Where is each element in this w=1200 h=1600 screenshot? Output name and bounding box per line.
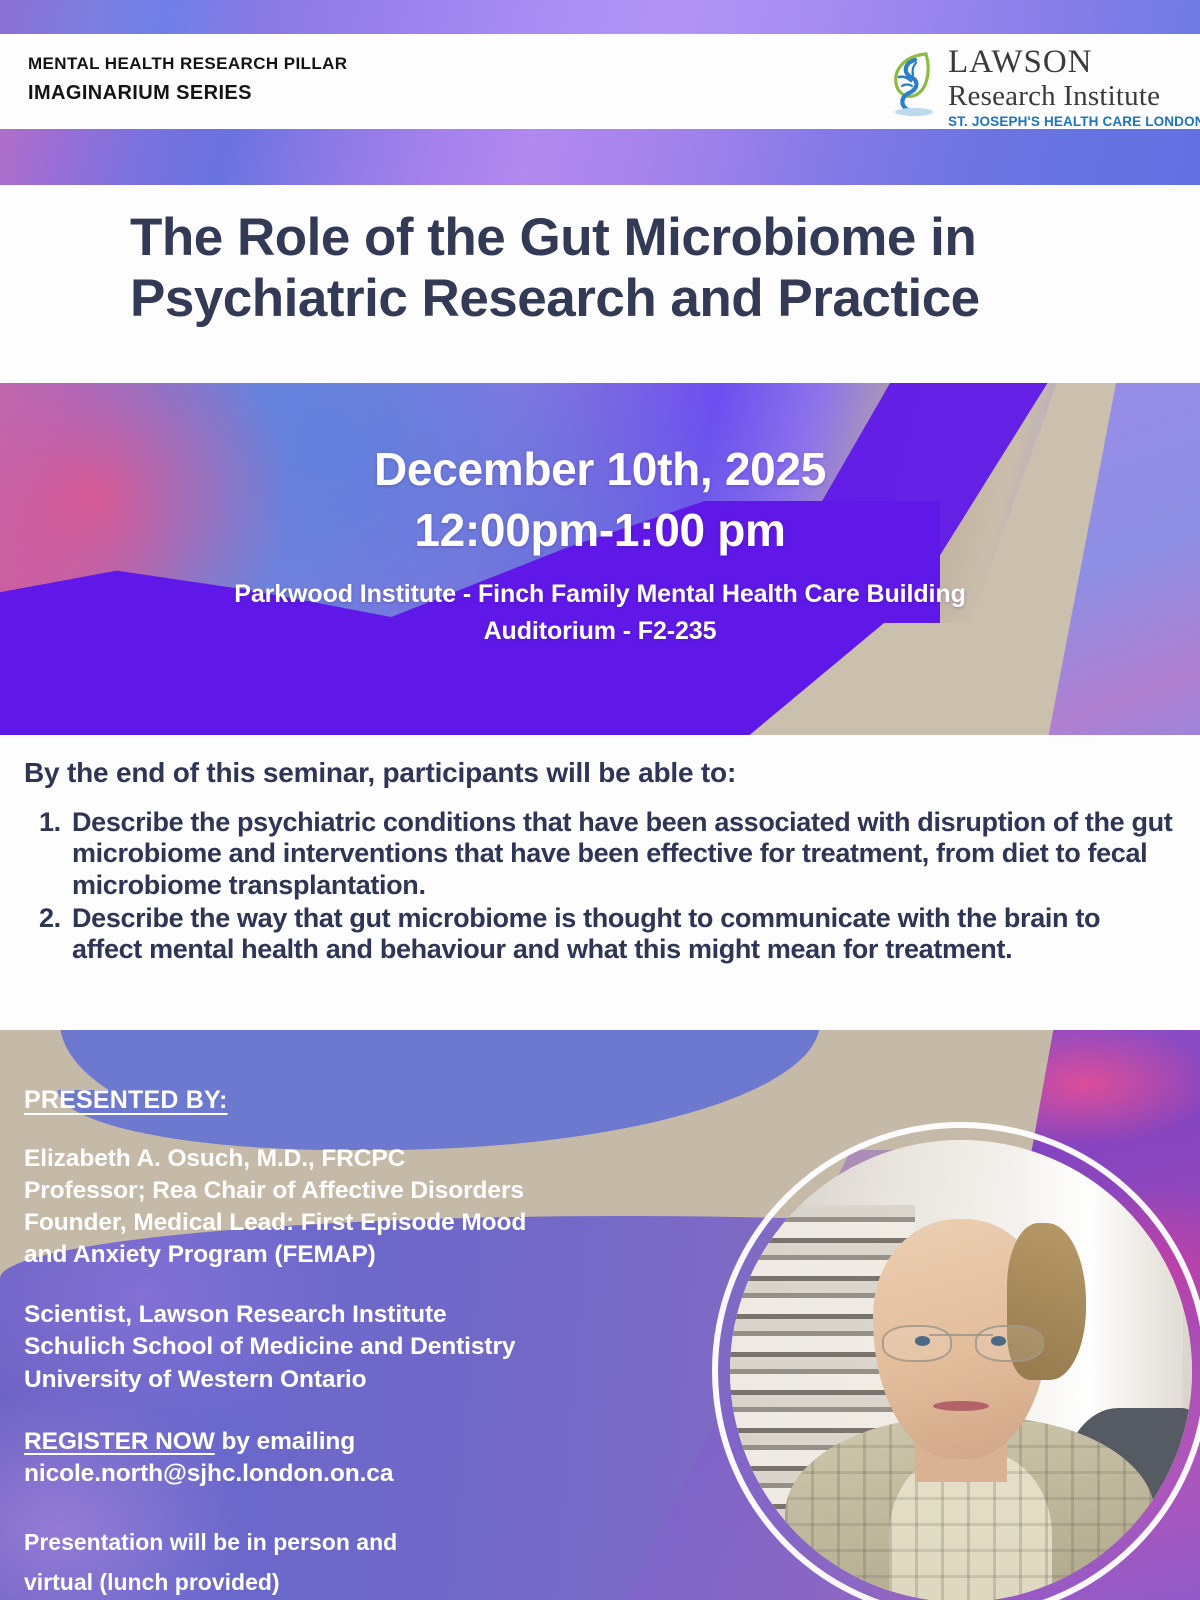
title-section: The Role of the Gut Microbiome in Psychi… [0, 185, 1200, 383]
learning-objectives-section: By the end of this seminar, participants… [0, 735, 1200, 1030]
poster-title: The Role of the Gut Microbiome in Psychi… [130, 207, 1090, 330]
photo-eyeglasses [882, 1325, 1044, 1362]
event-text-block: December 10th, 2025 12:00pm-1:00 pm Park… [0, 383, 1200, 735]
presenter-role-2: Founder, Medical Lead: First Episode Moo… [24, 1207, 644, 1239]
presenter-affiliation-block: Scientist, Lawson Research Institute Sch… [24, 1299, 644, 1395]
presenter-affiliation-1: Scientist, Lawson Research Institute [24, 1299, 644, 1331]
format-note-block: Presentation will be in person and virtu… [24, 1522, 644, 1600]
logo-line-lawson: LAWSON [948, 46, 1174, 79]
event-details-band: December 10th, 2025 12:00pm-1:00 pm Park… [0, 383, 1200, 735]
presenter-identity-block: Elizabeth A. Osuch, M.D., FRCPC Professo… [24, 1143, 644, 1271]
presented-by-label: PRESENTED BY: [24, 1086, 228, 1115]
lawson-wordmark: LAWSON Research Institute ST. JOSEPH'S H… [948, 46, 1174, 129]
logo-line-research-institute: Research Institute [948, 81, 1174, 111]
register-line: REGISTER NOW by emailing [24, 1426, 644, 1458]
presenter-name: Elizabeth A. Osuch, M.D., FRCPC [24, 1143, 644, 1175]
event-location-line-1: Parkwood Institute - Finch Family Mental… [234, 576, 966, 612]
poster-header: MENTAL HEALTH RESEARCH PILLAR IMAGINARIU… [0, 34, 1200, 128]
register-rest-text: by emailing [215, 1428, 355, 1455]
presenter-affiliation-2: Schulich School of Medicine and Dentistr… [24, 1331, 644, 1363]
series-label: IMAGINARIUM SERIES [28, 80, 347, 107]
objectives-list: Describe the psychiatric conditions that… [24, 807, 1176, 966]
photo-lens-right [975, 1325, 1045, 1362]
lawson-leaf-tree-icon [886, 50, 944, 116]
presented-by-wrapper: PRESENTED BY: [24, 1086, 644, 1115]
header-text-block: MENTAL HEALTH RESEARCH PILLAR IMAGINARIU… [28, 53, 347, 107]
registration-block[interactable]: REGISTER NOW by emailing nicole.north@sj… [24, 1426, 644, 1490]
photo-eye-right [991, 1336, 1006, 1345]
top-gradient-strip [0, 0, 1200, 34]
event-location-line-2: Auditorium - F2-235 [484, 613, 717, 649]
format-note-line-2: virtual (lunch provided) [24, 1562, 644, 1600]
presenter-section: PRESENTED BY: Elizabeth A. Osuch, M.D., … [0, 1030, 1200, 1600]
objective-item: Describe the way that gut microbiome is … [68, 903, 1176, 966]
presenter-affiliation-3: University of Western Ontario [24, 1364, 644, 1396]
objective-item: Describe the psychiatric conditions that… [68, 807, 1176, 901]
lawson-research-institute-logo: LAWSON Research Institute ST. JOSEPH'S H… [886, 46, 1176, 120]
presenter-text-block: PRESENTED BY: Elizabeth A. Osuch, M.D., … [24, 1086, 644, 1600]
format-note-line-1: Presentation will be in person and [24, 1522, 644, 1562]
photo-glasses-bridge [929, 1334, 994, 1336]
presenter-photo [730, 1140, 1192, 1600]
event-date: December 10th, 2025 [374, 439, 826, 500]
objectives-heading: By the end of this seminar, participants… [24, 757, 1176, 789]
logo-line-st-josephs: ST. JOSEPH'S HEALTH CARE LONDON [948, 114, 1174, 129]
seminar-poster: MENTAL HEALTH RESEARCH PILLAR IMAGINARIU… [0, 0, 1200, 1600]
presenter-role-3: and Anxiety Program (FEMAP) [24, 1239, 644, 1271]
research-pillar-label: MENTAL HEALTH RESEARCH PILLAR [28, 53, 347, 76]
event-time: 12:00pm-1:00 pm [414, 500, 785, 561]
photo-mouth [933, 1401, 988, 1411]
registration-email[interactable]: nicole.north@sjhc.london.on.ca [24, 1458, 644, 1490]
photo-eye-left [915, 1336, 930, 1345]
presenter-role-1: Professor; Rea Chair of Affective Disord… [24, 1175, 644, 1207]
register-now-link[interactable]: REGISTER NOW [24, 1428, 215, 1455]
header-accent-band [0, 129, 1200, 185]
